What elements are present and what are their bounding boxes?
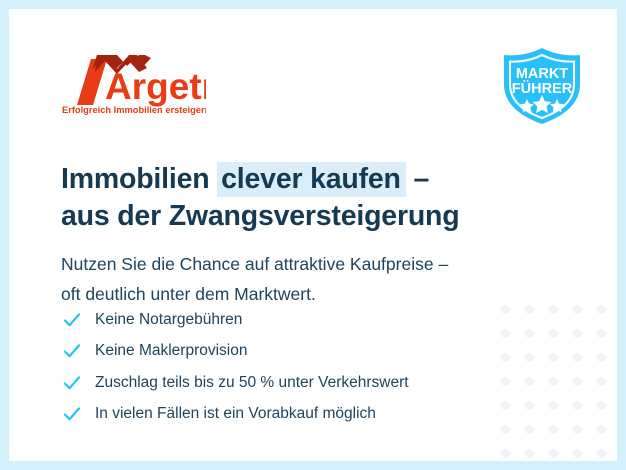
decorative-dot (525, 377, 534, 386)
dot-grid-decoration (493, 297, 613, 461)
promo-banner: Argetra Erfolgreich Immobilien ersteiger… (0, 0, 626, 470)
decorative-dot (573, 305, 582, 314)
decorative-dot (573, 377, 582, 386)
decorative-dot (549, 377, 558, 386)
decorative-dot (573, 353, 582, 362)
list-item: In vielen Fällen ist ein Vorabkauf mögli… (63, 399, 409, 431)
decorative-dot (549, 329, 558, 338)
decorative-dot (597, 377, 606, 386)
headline-prefix: Immobilien (61, 163, 217, 195)
decorative-dot (597, 305, 606, 314)
logo-tagline: Erfolgreich Immobilien ersteigern (62, 105, 206, 115)
decorative-dot (525, 449, 534, 458)
decorative-dot (573, 449, 582, 458)
banner-canvas: Argetra Erfolgreich Immobilien ersteiger… (9, 9, 617, 461)
badge-line2: FÜHRER (512, 80, 573, 97)
check-icon (63, 405, 81, 423)
headline-suffix: – (406, 163, 429, 195)
check-icon (63, 311, 81, 329)
check-icon (63, 342, 81, 360)
decorative-dot (597, 449, 606, 458)
decorative-dot (549, 449, 558, 458)
subtitle-line-1: Nutzen Sie die Chance auf attraktive Kau… (61, 249, 561, 279)
decorative-dot (501, 353, 510, 362)
decorative-dot (573, 329, 582, 338)
badge-line1: MARKT (516, 66, 568, 82)
benefit-label: Zuschlag teils bis zu 50 % unter Verkehr… (95, 374, 409, 392)
list-item: Keine Notargebühren (63, 304, 409, 336)
decorative-dot (549, 425, 558, 434)
page-title: Immobilien clever kaufen – aus der Zwang… (61, 161, 561, 235)
logo-wordmark: Argetra (105, 66, 206, 107)
argetra-logo[interactable]: Argetra Erfolgreich Immobilien ersteiger… (61, 53, 206, 115)
decorative-dot (549, 401, 558, 410)
decorative-dot (501, 377, 510, 386)
check-icon (63, 374, 81, 392)
benefit-label: Keine Maklerprovision (95, 342, 248, 360)
decorative-dot (573, 401, 582, 410)
decorative-dot (525, 401, 534, 410)
decorative-dot (525, 353, 534, 362)
decorative-dot (573, 425, 582, 434)
decorative-dot (597, 353, 606, 362)
decorative-dot (525, 425, 534, 434)
decorative-dot (597, 329, 606, 338)
benefit-label: Keine Notargebühren (95, 311, 242, 329)
decorative-dot (501, 401, 510, 410)
page-subtitle: Nutzen Sie die Chance auf attraktive Kau… (61, 249, 561, 309)
decorative-dot (597, 425, 606, 434)
decorative-dot (501, 449, 510, 458)
decorative-dot (501, 425, 510, 434)
benefit-label: In vielen Fällen ist ein Vorabkauf mögli… (95, 405, 376, 423)
benefits-list: Keine Notargebühren Keine Maklerprovisio… (63, 304, 409, 430)
decorative-dot (525, 329, 534, 338)
decorative-dot (501, 329, 510, 338)
list-item: Zuschlag teils bis zu 50 % unter Verkehr… (63, 367, 409, 399)
decorative-dot (597, 401, 606, 410)
headline-highlight: clever kaufen (217, 162, 406, 197)
decorative-dot (549, 353, 558, 362)
list-item: Keine Maklerprovision (63, 336, 409, 368)
headline-line-1: Immobilien clever kaufen – (61, 161, 561, 198)
markt-fuehrer-badge: MARKT FÜHRER (498, 46, 586, 126)
headline-line-2: aus der Zwangsversteigerung (61, 198, 561, 235)
